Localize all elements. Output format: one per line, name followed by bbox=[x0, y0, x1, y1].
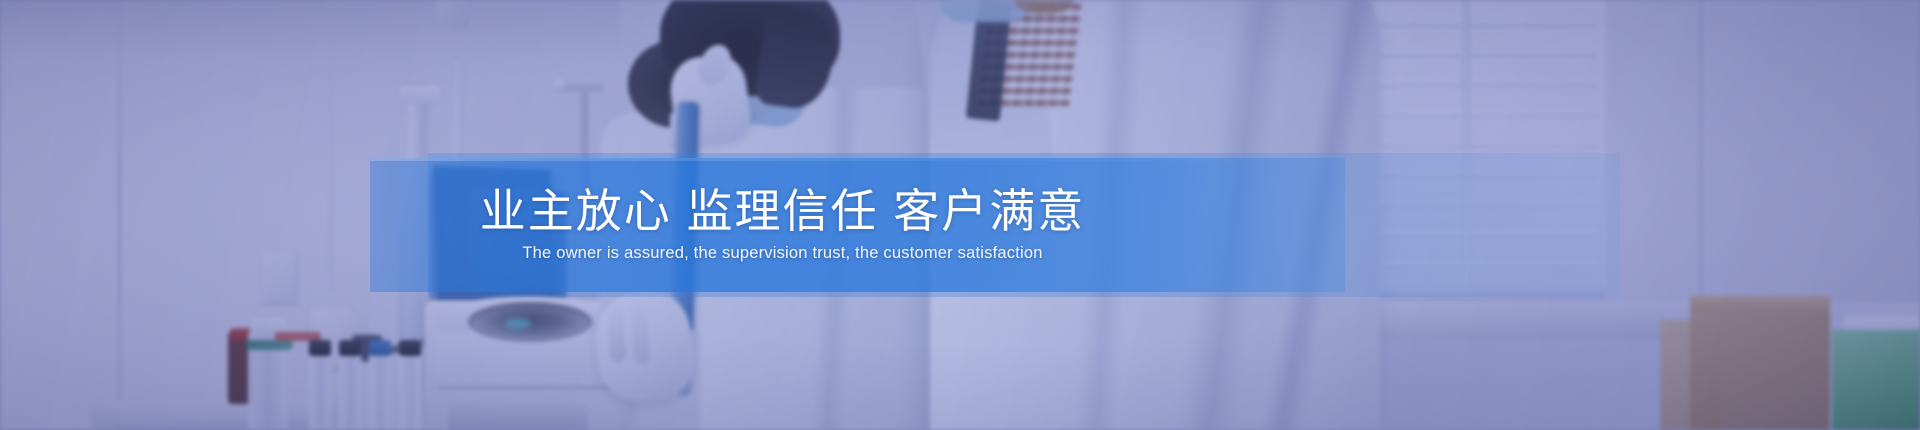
slogan-block: 业主放心 监理信任 客户满意 The owner is assured, the… bbox=[0, 153, 1565, 297]
hero-banner: 业主放心 监理信任 客户满意 The owner is assured, the… bbox=[0, 0, 1920, 430]
slogan-headline: 业主放心 监理信任 客户满意 bbox=[480, 186, 1086, 238]
slogan-subheadline: The owner is assured, the supervision tr… bbox=[522, 244, 1042, 264]
